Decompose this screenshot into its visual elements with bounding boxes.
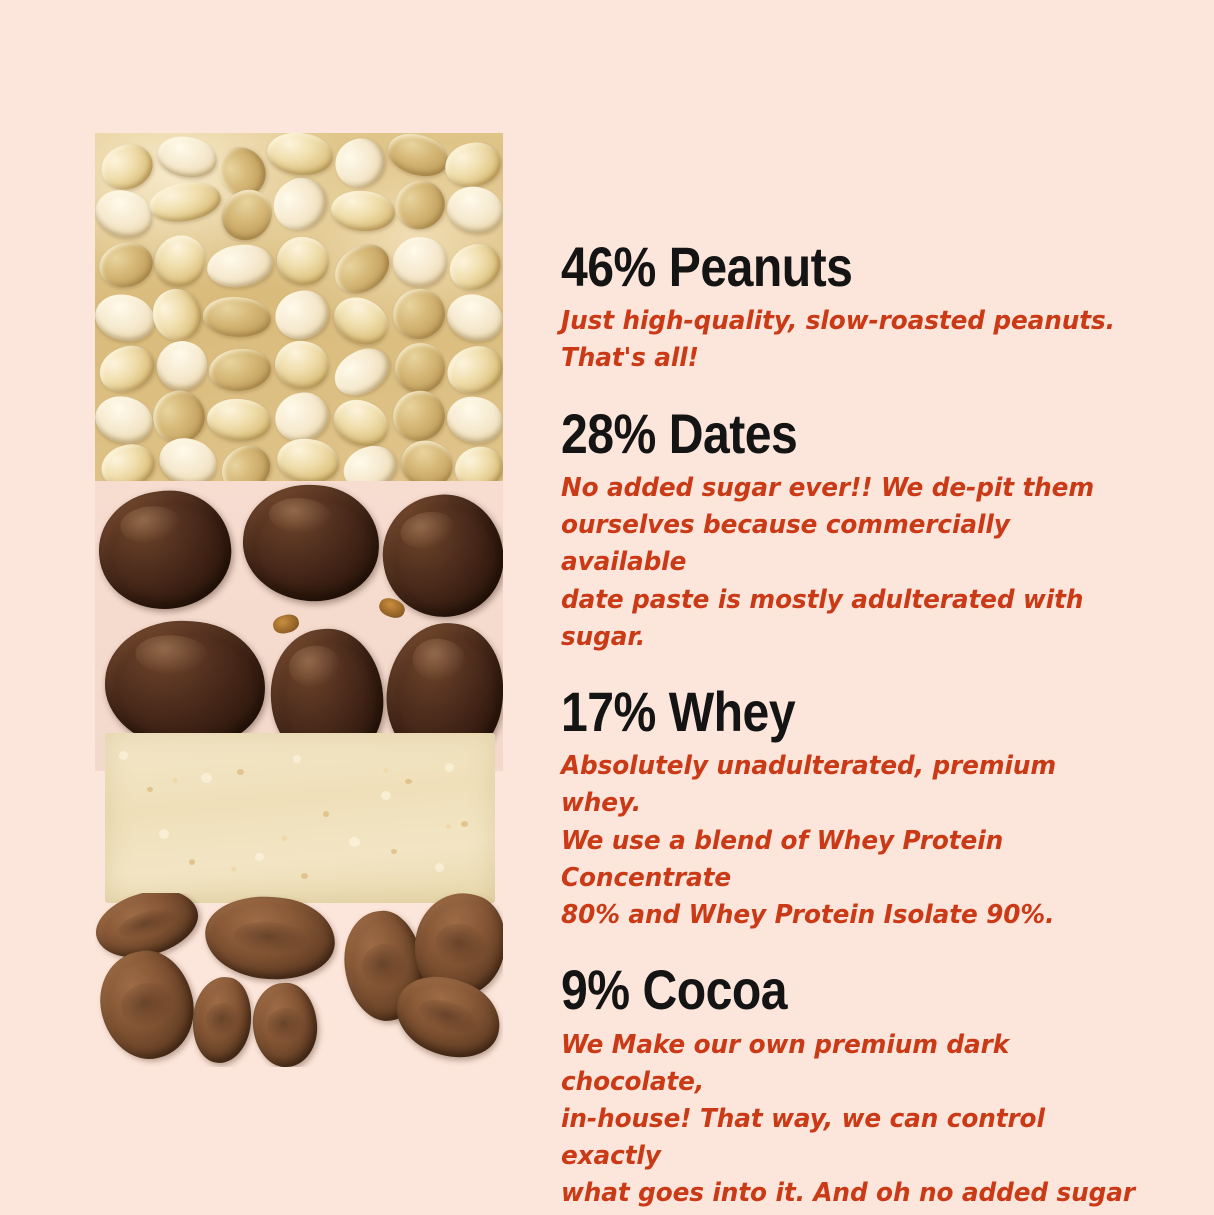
ingredient-description-cocoa: We Make our own premium dark chocolate, …: [561, 1027, 1143, 1215]
ingredient-desc-line: what goes into it. And oh no added sugar: [561, 1175, 1143, 1212]
ingredient-heading-peanuts: 46% Peanuts: [561, 238, 1077, 296]
ingredient-breakdown-poster: 46% Peanuts Just high-quality, slow-roas…: [0, 0, 1214, 1215]
ingredient-desc-line: No added sugar ever!! We de-pit them: [561, 470, 1143, 507]
ingredient-block-whey: 17% Whey Absolutely unadulterated, premi…: [561, 683, 1161, 934]
ingredient-block-cocoa: 9% Cocoa We Make our own premium dark ch…: [561, 961, 1161, 1215]
peanuts-band: [95, 133, 503, 485]
ingredient-description-dates: No added sugar ever!! We de-pit them our…: [561, 470, 1143, 656]
ingredient-desc-line: Absolutely unadulterated, premium whey.: [561, 748, 1143, 822]
ingredient-block-dates: 28% Dates No added sugar ever!! We de-pi…: [561, 405, 1161, 656]
ingredient-photo-stack: [95, 133, 503, 1067]
whey-band: [105, 733, 495, 903]
ingredient-desc-line: in-house! That way, we can control exact…: [561, 1101, 1143, 1175]
ingredient-heading-dates: 28% Dates: [561, 405, 1077, 463]
ingredient-desc-line: That's all!: [561, 340, 1143, 377]
ingredient-desc-line: 80% and Whey Protein Isolate 90%.: [561, 897, 1143, 934]
ingredient-description-whey: Absolutely unadulterated, premium whey. …: [561, 748, 1143, 934]
ingredient-heading-whey: 17% Whey: [561, 683, 1077, 741]
ingredient-block-peanuts: 46% Peanuts Just high-quality, slow-roas…: [561, 238, 1161, 378]
ingredient-desc-line: ourselves because commercially available: [561, 507, 1143, 581]
ingredient-description-peanuts: Just high-quality, slow-roasted peanuts.…: [561, 303, 1143, 377]
ingredient-desc-line: Just high-quality, slow-roasted peanuts.: [561, 303, 1143, 340]
cocoa-band: [95, 893, 503, 1067]
ingredient-desc-line: date paste is mostly adulterated with su…: [561, 582, 1143, 656]
ingredient-desc-line: We use a blend of Whey Protein Concentra…: [561, 823, 1143, 897]
ingredient-text-column: 46% Peanuts Just high-quality, slow-roas…: [561, 238, 1161, 1215]
ingredient-heading-cocoa: 9% Cocoa: [561, 961, 1077, 1019]
ingredient-desc-line: We Make our own premium dark chocolate,: [561, 1027, 1143, 1101]
dates-band: [95, 481, 503, 771]
